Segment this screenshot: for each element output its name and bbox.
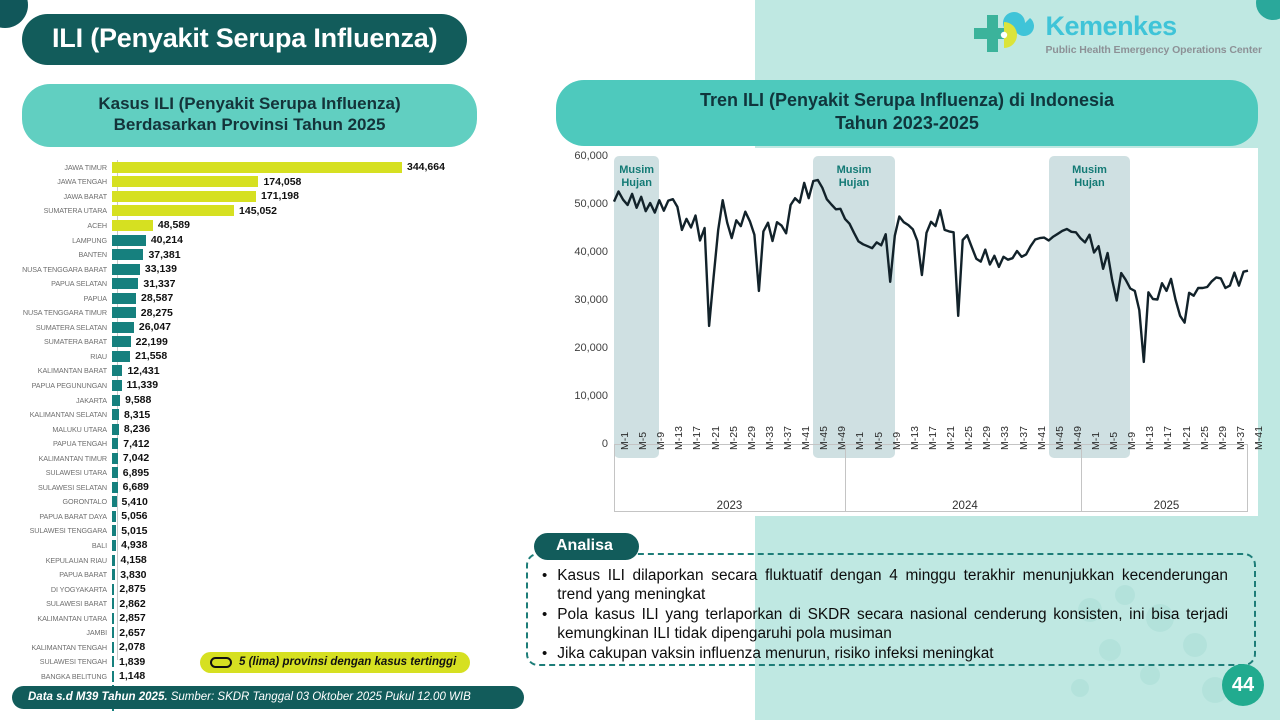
bar-chart-row: NUSA TENGGARA BARAT33,139: [12, 262, 532, 277]
bar-track: 26,047: [112, 320, 532, 335]
bar-value-label: 33,139: [145, 263, 177, 275]
analisa-item: •Pola kasus ILI yang terlaporkan di SKDR…: [542, 606, 1228, 644]
bar-fill: [112, 162, 402, 173]
bar-chart-row: DI YOGYAKARTA2,875: [12, 582, 532, 597]
bar-category-label: KALIMANTAN SELATAN: [12, 410, 112, 419]
bar-fill: [112, 424, 119, 435]
bar-value-label: 344,664: [407, 161, 445, 173]
left-chart-heading-line1: Kasus ILI (Penyakit Serupa Influenza): [36, 93, 463, 114]
analisa-item-text: Jika cakupan vaksin influenza menurun, r…: [557, 645, 993, 664]
analisa-box: •Kasus ILI dilaporkan secara fluktuatif …: [526, 553, 1256, 666]
bar-category-label: BANTEN: [12, 250, 112, 259]
bar-chart-row: JAWA BARAT171,198: [12, 189, 532, 204]
bar-category-label: GORONTALO: [12, 497, 112, 506]
bar-chart-row: SUMATERA BARAT22,199: [12, 335, 532, 350]
bar-chart-row: SUMATERA SELATAN26,047: [12, 320, 532, 335]
line-chart-inner: MusimHujanMusimHujanMusimHujan010,00020,…: [556, 148, 1258, 516]
bar-category-label: SULAWESI SELATAN: [12, 483, 112, 492]
bar-track: 28,587: [112, 291, 532, 306]
bar-value-label: 171,198: [261, 190, 299, 202]
bar-category-label: BANGKA BELITUNG: [12, 672, 112, 681]
bar-fill: [112, 235, 146, 246]
bar-chart-row: KALIMANTAN BARAT12,431: [12, 364, 532, 379]
bar-fill: [112, 555, 115, 566]
bar-track: 8,236: [112, 422, 532, 437]
bar-fill: [112, 293, 136, 304]
bar-fill: [112, 409, 119, 420]
bar-category-label: KALIMANTAN TENGAH: [12, 643, 112, 652]
bar-chart-row: PAPUA SELATAN31,337: [12, 276, 532, 291]
bar-category-label: ACEH: [12, 221, 112, 230]
bar-track: 12,431: [112, 364, 532, 379]
bar-category-label: NUSA TENGGARA BARAT: [12, 265, 112, 274]
x-axis-frame: [614, 444, 1248, 512]
bar-track: 2,657: [112, 626, 532, 641]
footer-rest-text: Sumber: SKDR Tanggal 03 Oktober 2025 Puk…: [168, 691, 471, 703]
bar-chart-row: SUMATERA UTARA145,052: [12, 204, 532, 219]
bar-track: 11,339: [112, 378, 532, 393]
bar-track: 171,198: [112, 189, 532, 204]
bar-category-label: SULAWESI BARAT: [12, 599, 112, 608]
page-title: ILI (Penyakit Serupa Influenza): [22, 14, 467, 65]
bar-track: 4,158: [112, 553, 532, 568]
bar-fill: [112, 656, 114, 667]
analisa-item-text: Pola kasus ILI yang terlaporkan di SKDR …: [557, 606, 1228, 644]
bar-fill: [112, 395, 120, 406]
bar-value-label: 1,148: [119, 670, 145, 682]
bar-category-label: JAKARTA: [12, 396, 112, 405]
bar-track: 31,337: [112, 276, 532, 291]
bar-chart-row: SULAWESI BARAT2,862: [12, 596, 532, 611]
bar-track: 33,139: [112, 262, 532, 277]
bar-chart-row: BANTEN37,381: [12, 247, 532, 262]
bar-track: 22,199: [112, 335, 532, 350]
bar-value-label: 2,862: [119, 598, 145, 610]
bar-track: 48,589: [112, 218, 532, 233]
bar-track: 21,558: [112, 349, 532, 364]
bar-value-label: 8,236: [124, 423, 150, 435]
bar-value-label: 26,047: [139, 321, 171, 333]
bar-fill: [112, 511, 116, 522]
corner-decoration-dot: [0, 0, 28, 28]
bar-chart-row: SULAWESI UTARA6,895: [12, 465, 532, 480]
analisa-item-text: Kasus ILI dilaporkan secara fluktuatif d…: [557, 567, 1228, 605]
bar-value-label: 7,412: [123, 438, 149, 450]
bar-category-label: NUSA TENGGARA TIMUR: [12, 308, 112, 317]
bar-category-label: SULAWESI UTARA: [12, 468, 112, 477]
bar-value-label: 21,558: [135, 350, 167, 362]
bar-value-label: 145,052: [239, 205, 277, 217]
bar-category-label: PAPUA BARAT DAYA: [12, 512, 112, 521]
bar-category-label: SUMATERA UTARA: [12, 206, 112, 215]
bar-value-label: 7,042: [123, 452, 149, 464]
bar-category-label: LAMPUNG: [12, 236, 112, 245]
bar-fill: [112, 322, 134, 333]
bar-value-label: 12,431: [127, 365, 159, 377]
bar-chart-row: GORONTALO5,410: [12, 495, 532, 510]
bar-category-label: SULAWESI TENGGARA: [12, 526, 112, 535]
bar-category-label: JAMBI: [12, 628, 112, 637]
bar-value-label: 4,938: [121, 539, 147, 551]
bar-value-label: 5,015: [121, 525, 147, 537]
bar-fill: [112, 205, 234, 216]
bar-chart-row: PAPUA28,587: [12, 291, 532, 306]
bar-category-label: KEPULAUAN RIAU: [12, 556, 112, 565]
bar-category-label: SUMATERA SELATAN: [12, 323, 112, 332]
bar-value-label: 3,830: [120, 569, 146, 581]
bar-fill: [112, 613, 114, 624]
bar-chart-row: PAPUA TENGAH7,412: [12, 436, 532, 451]
bar-category-label: PAPUA BARAT: [12, 570, 112, 579]
bar-fill: [112, 351, 130, 362]
bar-chart-row: JAWA TENGAH174,058: [12, 175, 532, 190]
analisa-list: •Kasus ILI dilaporkan secara fluktuatif …: [542, 567, 1228, 664]
bar-value-label: 2,657: [119, 627, 145, 639]
bar-category-label: JAWA BARAT: [12, 192, 112, 201]
bar-value-label: 174,058: [263, 176, 301, 188]
bar-fill: [112, 191, 256, 202]
bar-value-label: 11,339: [127, 379, 159, 391]
bar-category-label: MALUKU UTARA: [12, 425, 112, 434]
province-bar-chart: JAWA TIMUR344,664JAWA TENGAH174,058JAWA …: [12, 160, 532, 660]
bar-category-label: JAWA TENGAH: [12, 177, 112, 186]
bar-track: 5,015: [112, 524, 532, 539]
bar-chart-row: PAPUA BARAT DAYA5,056: [12, 509, 532, 524]
bar-track: 5,056: [112, 509, 532, 524]
analisa-item: •Jika cakupan vaksin influenza menurun, …: [542, 645, 1228, 664]
bar-chart-rows: JAWA TIMUR344,664JAWA TENGAH174,058JAWA …: [12, 160, 532, 713]
bar-value-label: 40,214: [151, 234, 183, 246]
bar-value-label: 6,689: [123, 481, 149, 493]
bar-chart-row: KALIMANTAN UTARA2,857: [12, 611, 532, 626]
bar-fill: [112, 467, 118, 478]
ili-trend-line-chart: MusimHujanMusimHujanMusimHujan010,00020,…: [556, 148, 1258, 516]
bar-chart-row: NUSA TENGGARA TIMUR28,275: [12, 305, 532, 320]
bar-category-label: KALIMANTAN BARAT: [12, 366, 112, 375]
bar-value-label: 1,839: [119, 656, 145, 668]
bar-fill: [112, 453, 118, 464]
bar-chart-row: SULAWESI SELATAN6,689: [12, 480, 532, 495]
bar-track: 344,664: [112, 160, 532, 175]
bar-fill: [112, 336, 131, 347]
bar-category-label: SULAWESI TENGAH: [12, 657, 112, 666]
left-chart-heading: Kasus ILI (Penyakit Serupa Influenza) Be…: [22, 84, 477, 147]
bar-fill: [112, 569, 115, 580]
bar-track: 2,862: [112, 596, 532, 611]
bar-category-label: PAPUA PEGUNUNGAN: [12, 381, 112, 390]
bar-fill: [112, 176, 258, 187]
bar-value-label: 28,275: [141, 307, 173, 319]
source-footer: Data s.d M39 Tahun 2025. Sumber: SKDR Ta…: [12, 686, 524, 709]
bar-fill: [112, 438, 118, 449]
legend-swatch-icon: [210, 657, 232, 668]
bar-fill: [112, 496, 117, 507]
bar-value-label: 5,410: [122, 496, 148, 508]
bar-chart-row: RIAU21,558: [12, 349, 532, 364]
bar-track: 2,875: [112, 582, 532, 597]
bar-value-label: 28,587: [141, 292, 173, 304]
bar-fill: [112, 540, 116, 551]
bar-track: 40,214: [112, 233, 532, 248]
bar-chart-row: JAMBI2,657: [12, 626, 532, 641]
bar-track: 6,895: [112, 465, 532, 480]
bar-value-label: 2,857: [119, 612, 145, 624]
bar-track: 37,381: [112, 247, 532, 262]
bar-value-label: 37,381: [148, 249, 180, 261]
right-chart-heading-line2: Tahun 2023-2025: [570, 112, 1244, 135]
bar-track: 7,042: [112, 451, 532, 466]
bar-fill: [112, 525, 116, 536]
left-chart-heading-line2: Berdasarkan Provinsi Tahun 2025: [36, 114, 463, 135]
bar-value-label: 31,337: [143, 278, 175, 290]
bar-value-label: 4,158: [120, 554, 146, 566]
bar-chart-row: LAMPUNG40,214: [12, 233, 532, 248]
bar-category-label: DI YOGYAKARTA: [12, 585, 112, 594]
bar-value-label: 5,056: [121, 510, 147, 522]
bar-chart-row: MALUKU UTARA8,236: [12, 422, 532, 437]
bar-fill: [112, 278, 138, 289]
bar-fill: [112, 264, 140, 275]
right-chart-heading-line1: Tren ILI (Penyakit Serupa Influenza) di …: [570, 89, 1244, 112]
bar-fill: [112, 642, 114, 653]
bar-track: 28,275: [112, 305, 532, 320]
bar-category-label: BALI: [12, 541, 112, 550]
bar-chart-row: KALIMANTAN SELATAN8,315: [12, 407, 532, 422]
bar-fill: [112, 584, 114, 595]
bar-fill: [112, 249, 143, 260]
kemenkes-logo: Kemenkes Public Health Emergency Operati…: [970, 8, 1262, 60]
bar-track: 174,058: [112, 175, 532, 190]
bar-category-label: KALIMANTAN UTARA: [12, 614, 112, 623]
bar-category-label: PAPUA: [12, 294, 112, 303]
bar-category-label: RIAU: [12, 352, 112, 361]
bar-value-label: 8,315: [124, 409, 150, 421]
bar-fill: [112, 671, 114, 682]
slide-root: ILI (Penyakit Serupa Influenza) Kasus IL…: [0, 0, 1280, 720]
bar-chart-row: JAKARTA9,588: [12, 393, 532, 408]
bar-chart-row: PAPUA PEGUNUNGAN11,339: [12, 378, 532, 393]
bar-track: 4,938: [112, 538, 532, 553]
bar-track: 145,052: [112, 204, 532, 219]
bullet-icon: •: [542, 567, 547, 605]
bar-track: 5,410: [112, 495, 532, 510]
footer-bold-text: Data s.d M39 Tahun 2025.: [28, 691, 168, 703]
kemenkes-cross-icon: [970, 8, 1036, 60]
bar-chart-row: SULAWESI TENGGARA5,015: [12, 524, 532, 539]
analisa-item: •Kasus ILI dilaporkan secara fluktuatif …: [542, 567, 1228, 605]
bar-chart-row: JAWA TIMUR344,664: [12, 160, 532, 175]
bar-category-label: SUMATERA BARAT: [12, 337, 112, 346]
bar-value-label: 22,199: [136, 336, 168, 348]
bar-fill: [112, 380, 122, 391]
bar-value-label: 2,078: [119, 641, 145, 653]
bar-category-label: PAPUA SELATAN: [12, 279, 112, 288]
analisa-label: Analisa: [534, 533, 639, 560]
bar-track: 6,689: [112, 480, 532, 495]
bar-category-label: KALIMANTAN TIMUR: [12, 454, 112, 463]
page-number-badge: 44: [1222, 664, 1264, 706]
bar-category-label: JAWA TIMUR: [12, 163, 112, 172]
bar-fill: [112, 627, 114, 638]
bullet-icon: •: [542, 645, 547, 664]
bar-value-label: 2,875: [119, 583, 145, 595]
bar-fill: [112, 598, 114, 609]
bar-fill: [112, 307, 136, 318]
bar-chart-row: BALI4,938: [12, 538, 532, 553]
bar-track: 2,857: [112, 611, 532, 626]
right-chart-heading: Tren ILI (Penyakit Serupa Influenza) di …: [556, 80, 1258, 146]
logo-name: Kemenkes: [1046, 13, 1262, 40]
bar-chart-legend: 5 (lima) provinsi dengan kasus tertinggi: [200, 652, 470, 673]
bar-track: 9,588: [112, 393, 532, 408]
bar-fill: [112, 220, 153, 231]
bar-chart-row: KALIMANTAN TIMUR7,042: [12, 451, 532, 466]
bar-category-label: PAPUA TENGAH: [12, 439, 112, 448]
bullet-icon: •: [542, 606, 547, 644]
bar-chart-row: KEPULAUAN RIAU4,158: [12, 553, 532, 568]
bar-track: 3,830: [112, 567, 532, 582]
logo-tagline: Public Health Emergency Operations Cente…: [1046, 44, 1262, 56]
bar-value-label: 9,588: [125, 394, 151, 406]
bar-value-label: 6,895: [123, 467, 149, 479]
bar-fill: [112, 482, 118, 493]
bar-track: 8,315: [112, 407, 532, 422]
bar-value-label: 48,589: [158, 219, 190, 231]
bar-chart-row: ACEH48,589: [12, 218, 532, 233]
bar-fill: [112, 365, 122, 376]
x-axis-tick-label: M-41: [1253, 426, 1265, 450]
bar-track: 7,412: [112, 436, 532, 451]
legend-label: 5 (lima) provinsi dengan kasus tertinggi: [239, 656, 456, 668]
bar-chart-row: PAPUA BARAT3,830: [12, 567, 532, 582]
